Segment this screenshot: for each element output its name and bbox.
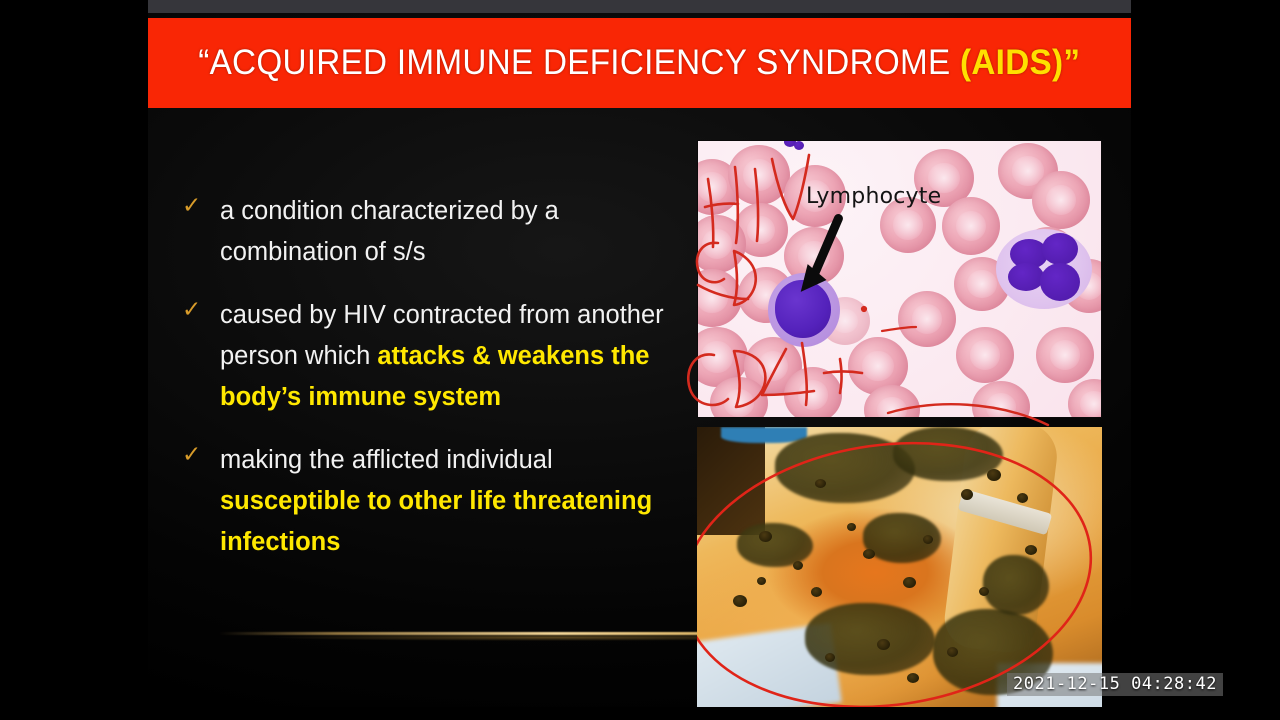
- red-blood-cell: [728, 145, 790, 205]
- lymphocyte-cell: [768, 273, 840, 347]
- check-icon: ✓: [182, 194, 206, 218]
- red-blood-cell: [898, 291, 956, 347]
- bullet-text-emphasis: susceptible to other life threatening in…: [220, 487, 652, 556]
- nucleus-lobe: [1008, 263, 1044, 291]
- title-lead: “ACQUIRED IMMUNE DEFICIENCY SYNDROME: [198, 43, 960, 82]
- bullet-list: ✓a condition characterized by a combinat…: [174, 191, 694, 585]
- letterbox-top: [0, 0, 1280, 13]
- list-item: ✓making the afflicted individual suscept…: [174, 440, 694, 563]
- check-icon: ✓: [182, 298, 206, 322]
- clinical-photo: [697, 427, 1102, 707]
- debris-speck: [794, 141, 804, 150]
- timestamp-text: 2021-12-15 04:28:42: [1013, 674, 1217, 694]
- red-blood-cell: [784, 367, 842, 418]
- red-blood-cell: [956, 327, 1014, 383]
- bullet-text-plain: a condition characterized by a combinati…: [220, 197, 559, 266]
- list-item: ✓caused by HIV contracted from another p…: [174, 295, 694, 418]
- gold-divider-glow: [268, 634, 738, 641]
- red-blood-cell: [1032, 171, 1090, 229]
- nucleus-lobe: [1042, 233, 1078, 265]
- nucleus-lobe: [1040, 263, 1080, 301]
- red-circle-annotation: [697, 427, 1102, 707]
- page-title: “ACQUIRED IMMUNE DEFICIENCY SYNDROME (AI…: [198, 43, 1080, 83]
- neutrophil-cell: [996, 229, 1092, 309]
- slide-title-bar: “ACQUIRED IMMUNE DEFICIENCY SYNDROME (AI…: [148, 18, 1131, 108]
- presentation-slide: “ACQUIRED IMMUNE DEFICIENCY SYNDROME (AI…: [148, 13, 1131, 707]
- list-item: ✓a condition characterized by a combinat…: [174, 191, 694, 273]
- check-icon: ✓: [182, 443, 206, 467]
- video-player-screen: “ACQUIRED IMMUNE DEFICIENCY SYNDROME (AI…: [0, 0, 1280, 720]
- timestamp-overlay: 2021-12-15 04:28:42: [1007, 673, 1223, 696]
- title-highlight: (AIDS)”: [960, 43, 1080, 82]
- letterbox-bottom: [0, 707, 1280, 720]
- red-blood-cell: [942, 197, 1000, 255]
- letterbox-right: [1131, 0, 1280, 720]
- blood-smear-micrograph: Lymphocyte: [697, 140, 1102, 418]
- lymphocyte-label: Lymphocyte: [806, 184, 941, 209]
- red-blood-cell: [1036, 327, 1094, 383]
- bullet-text-plain: making the afflicted individual: [220, 446, 553, 474]
- letterbox-left: [0, 0, 148, 720]
- player-top-chrome: [148, 0, 1131, 13]
